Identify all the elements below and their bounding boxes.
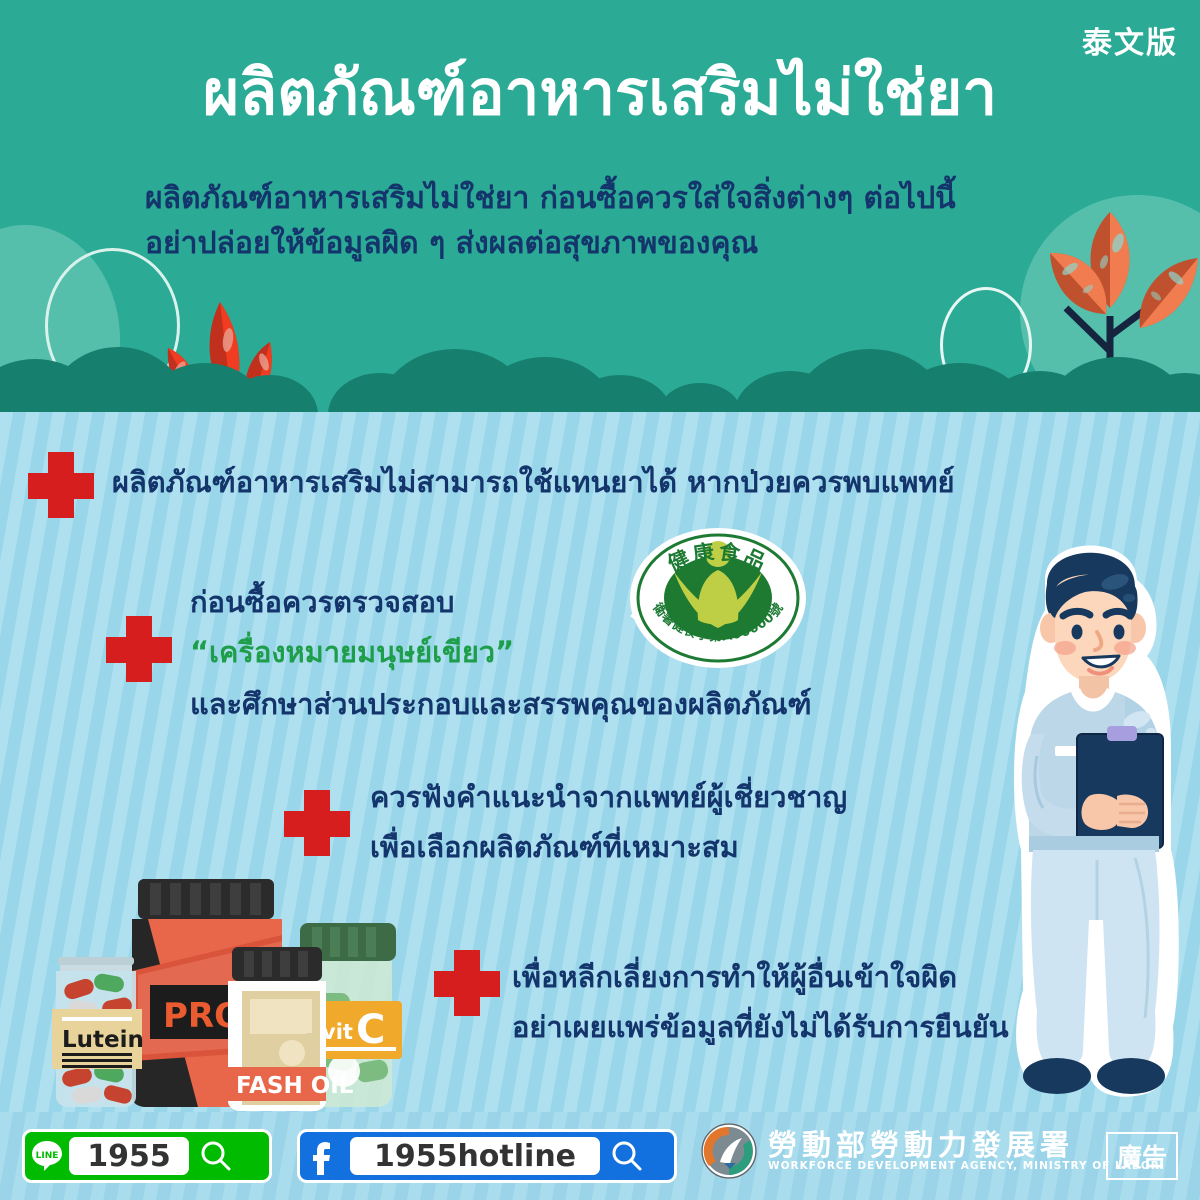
bullet-2-line-2-quoted: “เครื่องหมายมนุษย์เขียว” — [190, 630, 514, 675]
subtitle-line-2: อย่าปล่อยให้ข้อมูลผิด ๆ ส่งผลต่อสุขภาพขอ… — [145, 221, 1095, 266]
line-id-field[interactable]: 1955 — [69, 1137, 189, 1175]
agency-logo-icon — [700, 1122, 758, 1180]
bullet-1-text: ผลิตภัณฑ์อาหารเสริมไม่สามารถใช้แทนยาได้ … — [112, 460, 955, 505]
fish-oil-label: FASH OIL — [236, 1073, 354, 1099]
lutein-label: Lutein — [62, 1027, 144, 1053]
facebook-id-field[interactable]: 1955hotline — [350, 1137, 600, 1175]
page-title: ผลิตภัณฑ์อาหารเสริมไม่ใช่ยา — [0, 62, 1200, 124]
facebook-icon — [300, 1137, 350, 1175]
bullet-3-line-1: ควรฟังคำแนะนำจากแพทย์ผู้เชี่ยวชาญ — [370, 775, 847, 820]
poster-root: 泰文版 ผลิตภัณฑ์อาหารเสริมไม่ใช่ยา ผลิตภัณฑ… — [0, 0, 1200, 1200]
doctor-illustration — [985, 520, 1200, 1112]
bullet-2-line-3: และศึกษาส่วนประกอบและสรรพคุณของผลิตภัณฑ์ — [190, 682, 812, 727]
facebook-search-icon[interactable] — [600, 1139, 654, 1173]
line-contact-pill[interactable]: LINE 1955 — [22, 1129, 272, 1183]
agency-name-cn: 勞動部勞動力發展署 — [768, 1130, 1160, 1160]
ad-badge: 廣告 — [1106, 1132, 1178, 1180]
language-badge: 泰文版 — [1082, 18, 1178, 62]
vitc-letter-label: C — [356, 1007, 385, 1053]
health-food-seal: 健康食品 衛署健食字第A00000號 — [612, 524, 812, 674]
line-brand-text: LINE — [36, 1151, 59, 1161]
bullet-4-line-1: เพื่อหลีกเลี่ยงการทำให้ผู้อื่นเข้าใจผิด — [512, 955, 957, 1000]
supplement-bottles-illustration: PROT vit C — [20, 875, 440, 1115]
subtitle-line-1: ผลิตภัณฑ์อาหารเสริมไม่ใช่ยา ก่อนซื้อควรใ… — [145, 176, 1095, 221]
header-subtitle: ผลิตภัณฑ์อาหารเสริมไม่ใช่ยา ก่อนซื้อควรใ… — [145, 176, 1095, 266]
bullet-2-line-1: ก่อนซื้อควรตรวจสอบ — [190, 580, 454, 625]
facebook-contact-pill[interactable]: 1955hotline — [297, 1129, 677, 1183]
agency-branding: 勞動部勞動力發展署 WORKFORCE DEVELOPMENT AGENCY, … — [700, 1122, 1160, 1180]
cross-icon-4 — [434, 950, 500, 1016]
cross-icon-1 — [28, 452, 94, 518]
cross-icon-3 — [284, 790, 350, 856]
bush-row — [0, 320, 1200, 412]
line-icon: LINE — [25, 1139, 69, 1173]
agency-name-en: WORKFORCE DEVELOPMENT AGENCY, MINISTRY O… — [768, 1160, 1160, 1172]
cross-icon-2 — [106, 616, 172, 682]
bullet-3-line-2: เพื่อเลือกผลิตภัณฑ์ที่เหมาะสม — [370, 825, 739, 870]
bullet-4-line-2: อย่าเผยแพร่ข้อมูลที่ยังไม่ได้รับการยืนยั… — [512, 1005, 1009, 1050]
line-search-icon[interactable] — [189, 1139, 243, 1173]
vitc-prefix-label: vit — [322, 1020, 353, 1044]
